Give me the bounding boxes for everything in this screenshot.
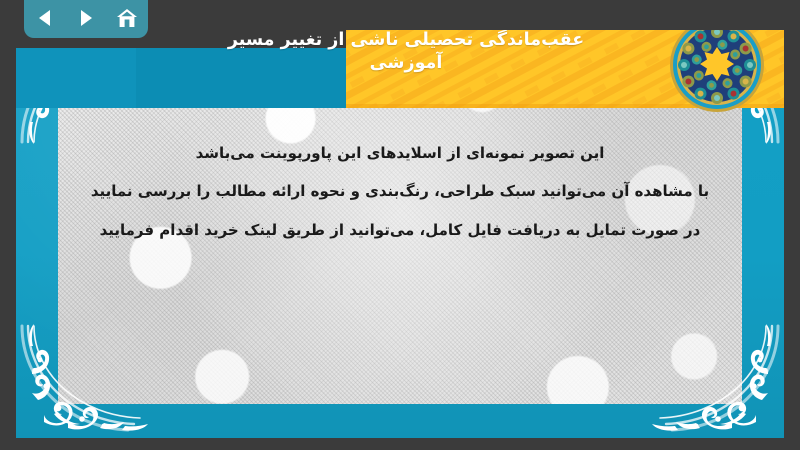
body-line-1: این تصویر نمونه‌ای از اسلایدهای این پاور…	[76, 134, 724, 172]
slide-canvas: تحلیل راهبردهای جبرانی برای رفع عقب‌ماند…	[16, 30, 784, 438]
slide-title: تحلیل راهبردهای جبرانی برای رفع عقب‌ماند…	[126, 30, 686, 74]
islamic-medallion-icon	[668, 30, 766, 114]
slide-title-line-2: عقب‌ماندگی تحصیلی ناشی از تغییر مسیر	[126, 30, 686, 52]
slide-title-line-3: آموزشی	[126, 52, 686, 75]
body-line-2: با مشاهده آن می‌توانید سبک طراحی، رنگ‌بن…	[76, 172, 724, 210]
home-icon	[116, 8, 138, 28]
slide-navigation-bar	[24, 0, 148, 38]
presentation-viewer: تحلیل راهبردهای جبرانی برای رفع عقب‌ماند…	[0, 0, 800, 450]
slide-body-text: این تصویر نمونه‌ای از اسلایدهای این پاور…	[76, 134, 724, 249]
home-button[interactable]	[112, 4, 142, 32]
previous-slide-button[interactable]	[30, 4, 60, 32]
triangle-left-icon	[37, 9, 53, 27]
next-slide-button[interactable]	[71, 4, 101, 32]
body-line-3: در صورت تمایل به دریافت فایل کامل، می‌تو…	[76, 211, 724, 249]
triangle-right-icon	[78, 9, 94, 27]
